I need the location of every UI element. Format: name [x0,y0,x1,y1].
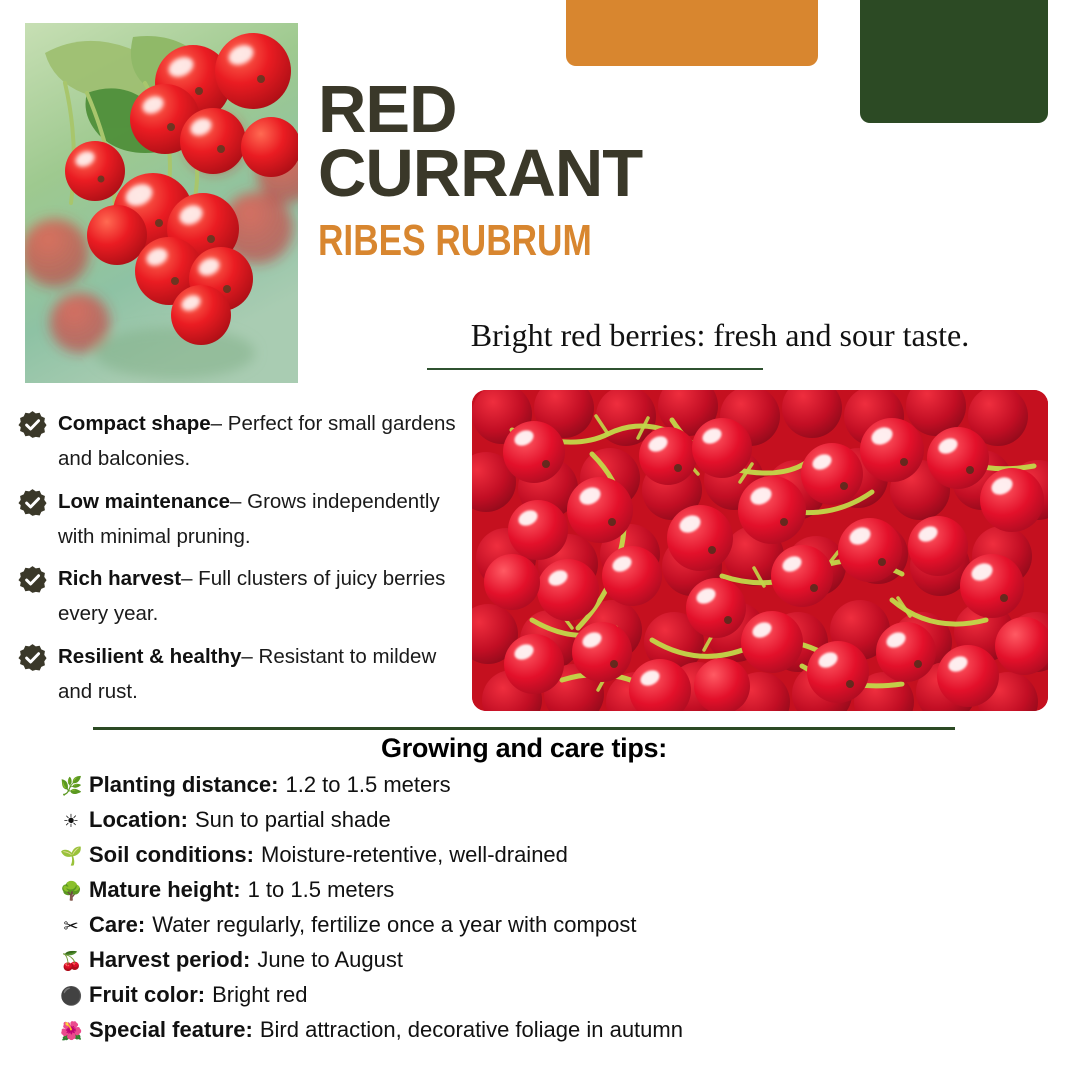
tip-value: Bright red [212,978,307,1011]
botanical-name: Ribes rubrum [318,219,878,263]
title-block: Red Currant Ribes rubrum [318,78,1018,263]
list-item: Compact shape– Perfect for small gardens… [18,406,466,477]
tip-value: Water regularly, fertilize once a year w… [152,908,636,941]
tips-divider [93,727,955,730]
tip-row: 🌿 Planting distance: 1.2 to 1.5 meters [60,768,1020,803]
tip-row: 🍒 Harvest period: June to August [60,943,1020,978]
tip-label: Harvest period: [89,943,250,976]
tip-value: Bird attraction, decorative foliage in a… [260,1013,683,1046]
tip-row: 🌺 Special feature: Bird attraction, deco… [60,1013,1020,1048]
tip-label: Soil conditions: [89,838,254,871]
tip-label: Special feature: [89,1013,253,1046]
poster-canvas: Red Currant Ribes rubrum Bright red berr… [0,0,1080,1080]
tip-row: ✂ Care: Water regularly, fertilize once … [60,908,1020,943]
tip-value: 1 to 1.5 meters [248,873,395,906]
tip-row: 🌱 Soil conditions: Moisture-retentive, w… [60,838,1020,873]
herb-icon: 🌿 [60,770,82,803]
tree-icon: 🌳 [60,875,82,908]
benefit-label: Low maintenance [58,490,230,513]
tagline-text: Bright red berries: fresh and sour taste… [420,316,1020,354]
tip-label: Planting distance: [89,768,278,801]
berries-photo [472,390,1048,711]
tip-row: 🌳 Mature height: 1 to 1.5 meters [60,873,1020,908]
tip-label: Fruit color: [89,978,205,1011]
tip-row: ⚫ Fruit color: Bright red [60,978,1020,1013]
tagline-divider [427,368,763,370]
tips-heading: Growing and care tips: [93,733,955,764]
list-item: Rich harvest– Full clusters of juicy ber… [18,561,466,632]
list-item: Low maintenance– Grows independently wit… [18,484,466,555]
tip-value: June to August [257,943,403,976]
tip-value: Sun to partial shade [195,803,391,836]
check-badge-icon [18,643,47,672]
tip-label: Care: [89,908,145,941]
scissors-icon: ✂ [60,910,82,943]
check-badge-icon [18,488,47,517]
page-title-line-1: Red [318,78,1018,142]
tip-value: Moisture-retentive, well-drained [261,838,568,871]
benefit-dash: – [181,567,192,590]
tip-value: 1.2 to 1.5 meters [285,768,450,801]
benefits-list: Compact shape– Perfect for small gardens… [18,406,466,716]
tips-list: 🌿 Planting distance: 1.2 to 1.5 meters ☀… [60,768,1020,1048]
page-title-line-2: Currant [318,142,1018,206]
circle-icon: ⚫ [60,980,82,1013]
cherries-icon: 🍒 [60,945,82,978]
list-item: Resilient & healthy– Resistant to mildew… [18,639,466,710]
benefit-dash: – [241,645,252,668]
benefit-dash: – [230,490,241,513]
tagline-block: Bright red berries: fresh and sour taste… [420,316,1020,370]
tip-label: Location: [89,803,188,836]
benefit-dash: – [211,412,222,435]
check-badge-icon [18,410,47,439]
tip-label: Mature height: [89,873,241,906]
tip-row: ☀ Location: Sun to partial shade [60,803,1020,838]
sun-icon: ☀ [60,805,82,838]
seedling-icon: 🌱 [60,840,82,873]
hibiscus-icon: 🌺 [60,1015,82,1048]
benefit-label: Compact shape [58,412,211,435]
benefit-label: Rich harvest [58,567,181,590]
hero-photo-red-currant-branch [25,23,298,383]
check-badge-icon [18,565,47,594]
decor-block-orange [566,0,818,66]
benefit-label: Resilient & healthy [58,645,241,668]
